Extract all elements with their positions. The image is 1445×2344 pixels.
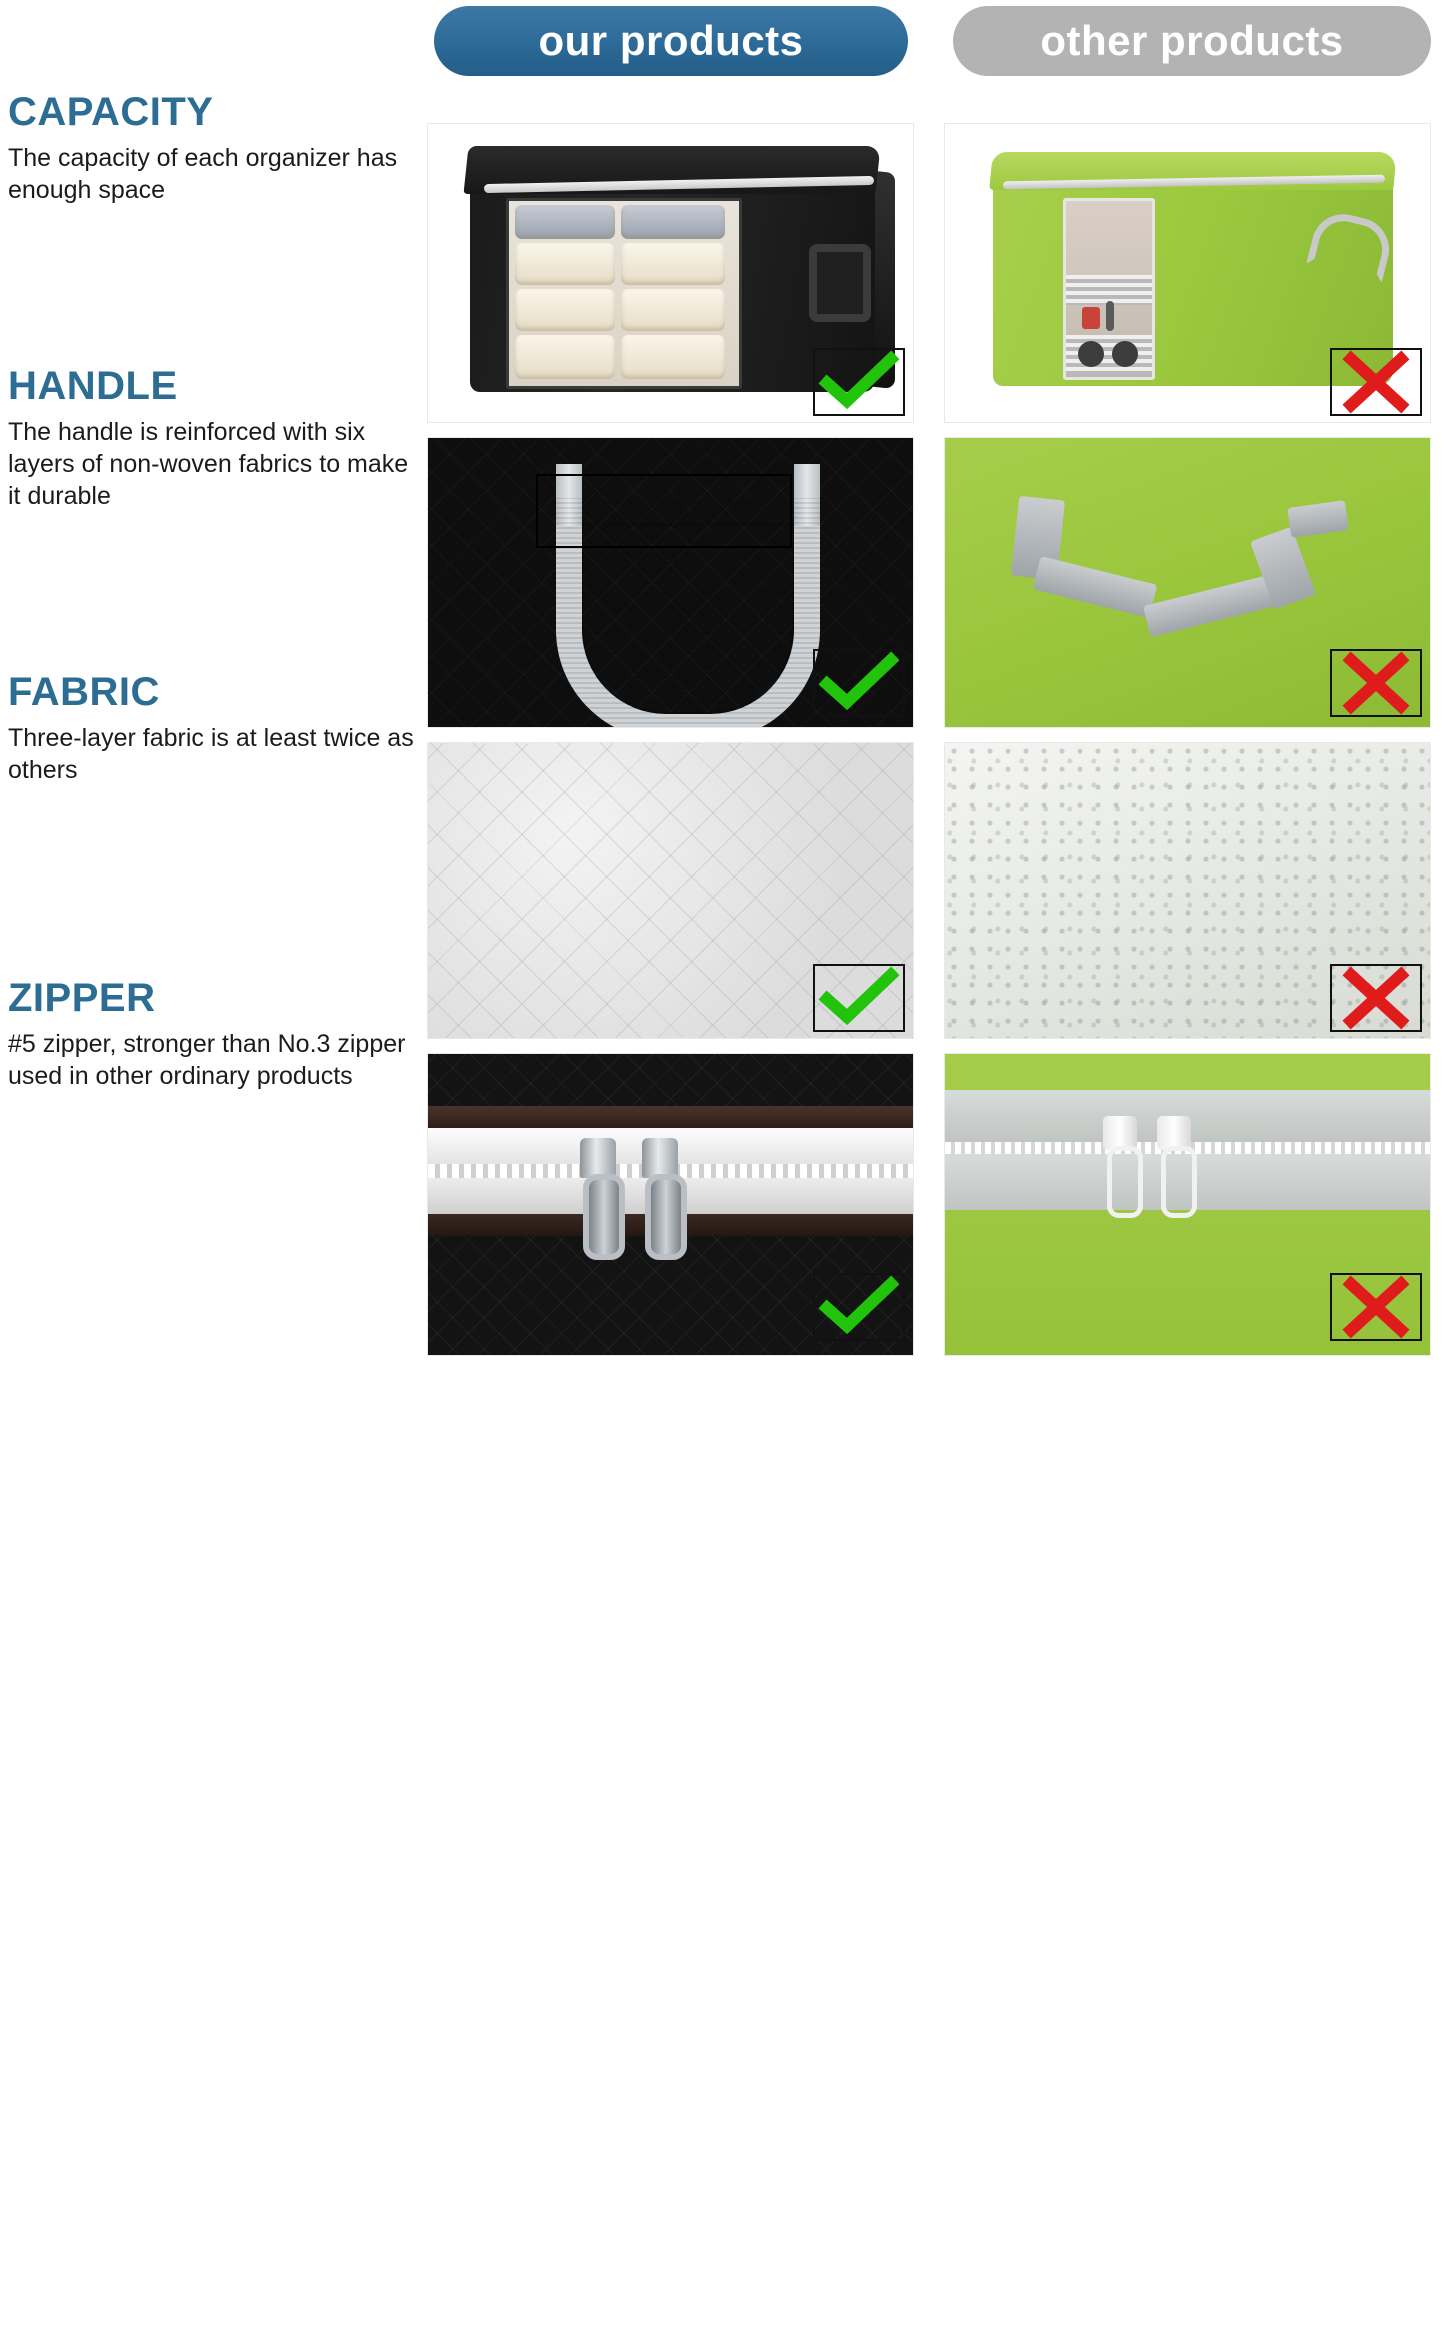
status-badge-cross <box>1330 649 1422 717</box>
feature-text-zipper: ZIPPER #5 zipper, stronger than No.3 zip… <box>8 0 422 2344</box>
stored-item <box>1078 341 1104 367</box>
puller-head <box>1103 1116 1137 1150</box>
feature-description: #5 zipper, stronger than No.3 zipper use… <box>8 1028 422 1092</box>
fabric-mesh-top <box>428 1054 913 1106</box>
photo-other-zipper <box>944 1053 1431 1356</box>
strap-segment <box>1143 575 1277 637</box>
zipper-puller <box>578 1138 618 1248</box>
folded-item <box>621 289 725 331</box>
highlight-box <box>536 474 792 548</box>
feature-title: ZIPPER <box>8 978 422 1018</box>
status-badge-check <box>813 348 905 416</box>
our-products-pill: our products <box>434 6 908 76</box>
folded-item <box>515 335 615 379</box>
bag-window <box>1063 198 1155 380</box>
bag-window <box>506 198 742 389</box>
puller-tab <box>1161 1146 1197 1218</box>
folded-item <box>621 243 725 285</box>
stored-item <box>1106 301 1114 331</box>
folded-item <box>515 205 615 239</box>
status-badge-cross <box>1330 964 1422 1032</box>
status-badge-check <box>813 964 905 1032</box>
puller-head <box>580 1138 616 1178</box>
puller-tab <box>645 1174 687 1260</box>
check-mark-icon <box>823 355 895 409</box>
status-badge-check <box>813 649 905 717</box>
folded-item <box>621 205 725 239</box>
check-mark-icon <box>823 1280 895 1334</box>
photo-our-capacity <box>427 123 914 423</box>
bag-handle <box>809 244 871 322</box>
strap-segment <box>1287 500 1349 538</box>
zipper-puller <box>1103 1116 1137 1208</box>
puller-head <box>1157 1116 1191 1150</box>
puller-tab <box>583 1174 625 1260</box>
our-products-label: our products <box>539 17 804 65</box>
status-badge-check <box>813 1273 905 1341</box>
photo-other-handle <box>944 437 1431 728</box>
other-products-pill: other products <box>953 6 1431 76</box>
photo-our-zipper <box>427 1053 914 1356</box>
zipper-puller <box>640 1138 680 1248</box>
photo-other-capacity <box>944 123 1431 423</box>
photo-other-fabric <box>944 742 1431 1039</box>
cross-mark-icon <box>1345 1279 1407 1335</box>
zipper-puller <box>1157 1116 1191 1208</box>
check-mark-icon <box>823 656 895 710</box>
folded-item <box>515 289 615 331</box>
cross-mark-icon <box>1345 354 1407 410</box>
strap-segment <box>1033 556 1158 618</box>
status-badge-cross <box>1330 1273 1422 1341</box>
cross-mark-icon <box>1345 655 1407 711</box>
status-badge-cross <box>1330 348 1422 416</box>
puller-head <box>642 1138 678 1178</box>
binding-tape <box>428 1106 913 1128</box>
photo-our-handle <box>427 437 914 728</box>
cross-mark-icon <box>1345 970 1407 1026</box>
folded-item <box>515 243 615 285</box>
photo-our-fabric <box>427 742 914 1039</box>
folded-item <box>621 335 725 379</box>
stored-item <box>1082 307 1100 329</box>
stored-item <box>1112 341 1138 367</box>
puller-tab <box>1107 1146 1143 1218</box>
check-mark-icon <box>823 971 895 1025</box>
thin-handle-strap <box>1005 498 1335 648</box>
other-products-label: other products <box>1040 17 1343 65</box>
